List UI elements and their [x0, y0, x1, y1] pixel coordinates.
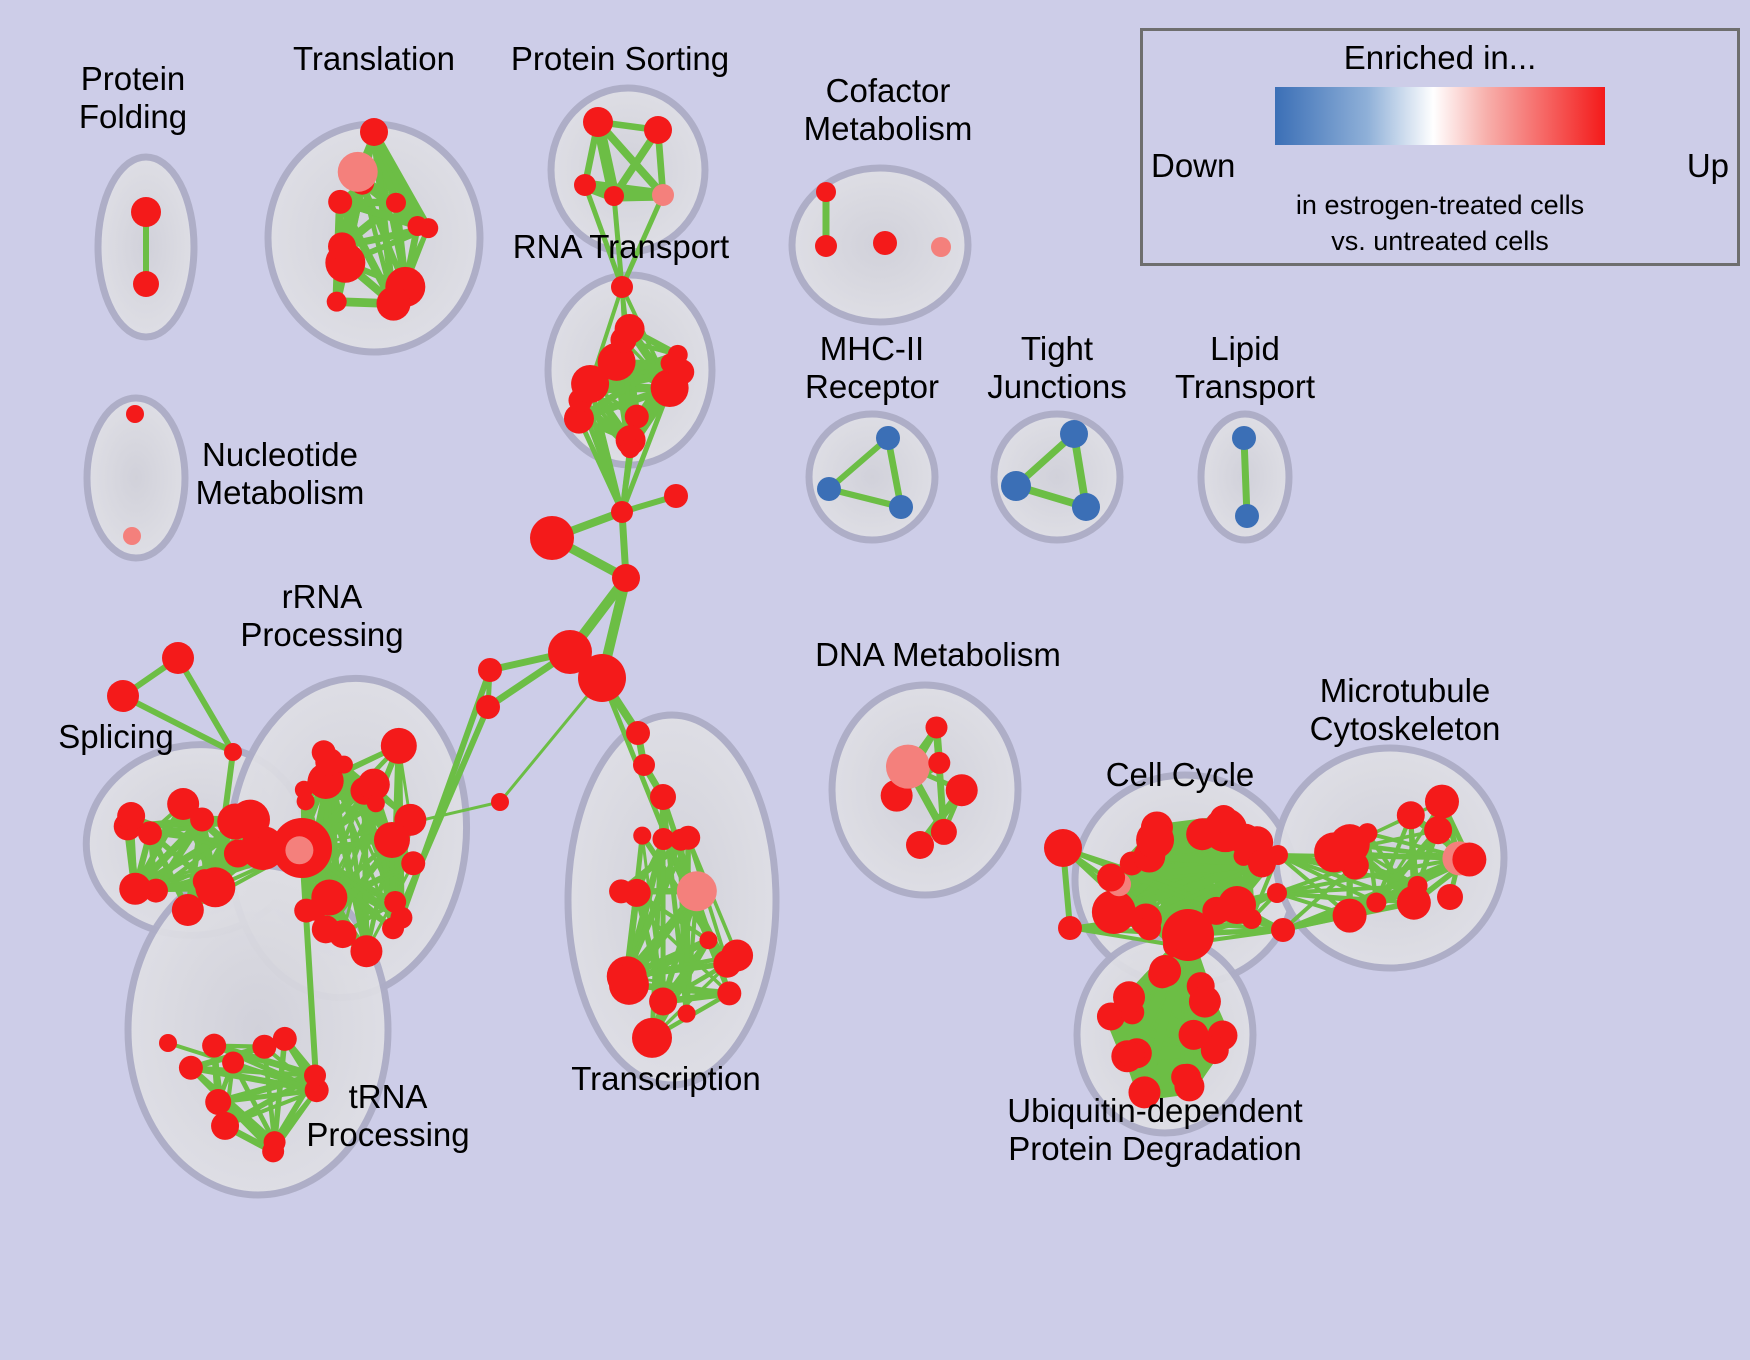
- network-node-ps-rt-bridge[interactable]: [611, 276, 633, 298]
- network-node-protein-folding[interactable]: [133, 271, 159, 297]
- network-node-microtubule-cytoskeleton[interactable]: [1357, 823, 1377, 843]
- network-node-cofactor-metabolism[interactable]: [816, 182, 836, 202]
- network-node-translation[interactable]: [360, 118, 388, 146]
- network-figure: Protein FoldingTranslationProtein Sortin…: [0, 0, 1750, 1360]
- cluster-ellipse-mhc-ii-receptor: [809, 414, 935, 540]
- network-node-transcription[interactable]: [632, 1018, 672, 1058]
- network-node-transcription[interactable]: [713, 950, 741, 978]
- network-node-splicing[interactable]: [224, 840, 252, 868]
- network-node-translation[interactable]: [418, 218, 438, 238]
- network-node-dna-metabolism[interactable]: [946, 774, 978, 806]
- network-node-splicing[interactable]: [190, 808, 214, 832]
- network-node-trna-processing[interactable]: [205, 1089, 231, 1115]
- network-node-rt-mid-c[interactable]: [530, 516, 574, 560]
- cluster-label-microtubule-cytoskeleton: Microtubule Cytoskeleton: [1310, 672, 1501, 748]
- network-node-lipid-transport[interactable]: [1235, 504, 1259, 528]
- cluster-label-splicing: Splicing: [58, 718, 174, 756]
- network-node-nucleotide-metabolism[interactable]: [126, 405, 144, 423]
- network-node-cc-mt-c[interactable]: [1271, 918, 1295, 942]
- network-node-transcription[interactable]: [633, 827, 651, 845]
- network-node-splicing[interactable]: [119, 873, 151, 905]
- network-node-translation[interactable]: [328, 232, 356, 260]
- cluster-label-mhc-ii-receptor: MHC-II Receptor: [805, 330, 939, 406]
- network-node-transcription[interactable]: [699, 931, 717, 949]
- network-node-cell-cycle[interactable]: [1242, 909, 1262, 929]
- legend-up-label: Up: [1687, 147, 1729, 185]
- network-node-rt-mid-a[interactable]: [611, 501, 633, 523]
- network-node-microtubule-cytoskeleton[interactable]: [1425, 785, 1459, 819]
- cluster-label-cofactor-metabolism: Cofactor Metabolism: [804, 72, 973, 148]
- network-node-translation[interactable]: [338, 152, 378, 192]
- network-node-rrna-processing[interactable]: [382, 917, 404, 939]
- network-node-translation[interactable]: [376, 287, 410, 321]
- network-node-protein-sorting[interactable]: [652, 184, 674, 206]
- network-node-ubiquitin-protein-degradation[interactable]: [1201, 1036, 1229, 1064]
- network-node-microtubule-cytoskeleton[interactable]: [1397, 801, 1425, 829]
- network-node-tight-junctions[interactable]: [1060, 420, 1088, 448]
- network-node-trna-processing[interactable]: [179, 1056, 203, 1080]
- network-node-protein-sorting[interactable]: [644, 116, 672, 144]
- network-node-sp-top-c[interactable]: [224, 743, 242, 761]
- network-node-rr-right[interactable]: [491, 793, 509, 811]
- network-node-cofactor-metabolism[interactable]: [815, 235, 837, 257]
- network-node-rna-transport[interactable]: [668, 359, 694, 385]
- network-node-hub-b[interactable]: [578, 654, 626, 702]
- network-node-dna-tail[interactable]: [906, 831, 934, 859]
- network-node-dna-metabolism[interactable]: [928, 752, 950, 774]
- legend-sub-line2: vs. untreated cells: [1143, 225, 1737, 257]
- network-node-mhc-ii-receptor[interactable]: [817, 477, 841, 501]
- network-node-dna-metabolism[interactable]: [931, 819, 957, 845]
- network-node-trna-processing[interactable]: [211, 1112, 239, 1140]
- network-node-rrna-processing[interactable]: [294, 899, 318, 923]
- cluster-label-tight-junctions: Tight Junctions: [987, 330, 1126, 406]
- legend-color-bar: [1275, 87, 1605, 145]
- network-node-rr-up-b[interactable]: [476, 695, 500, 719]
- network-node-cell-cycle[interactable]: [1137, 916, 1161, 940]
- network-node-microtubule-cytoskeleton[interactable]: [1397, 886, 1431, 920]
- network-node-dna-metabolism[interactable]: [886, 745, 930, 789]
- network-node-sp-top-a[interactable]: [162, 642, 194, 674]
- network-node-cc-mt-b[interactable]: [1267, 883, 1287, 903]
- network-node-rrna-processing[interactable]: [381, 728, 417, 764]
- network-node-tight-junctions[interactable]: [1072, 493, 1100, 521]
- network-node-cell-cycle[interactable]: [1166, 914, 1204, 952]
- network-node-tr-in-b[interactable]: [633, 754, 655, 776]
- network-node-trna-processing[interactable]: [222, 1052, 244, 1074]
- network-node-protein-sorting[interactable]: [583, 107, 613, 137]
- network-node-ubiquitin-protein-degradation[interactable]: [1119, 1042, 1145, 1068]
- network-node-rna-transport[interactable]: [620, 438, 640, 458]
- network-node-rrna-processing[interactable]: [312, 740, 336, 764]
- network-node-cell-cycle[interactable]: [1092, 890, 1136, 934]
- cluster-label-ubiquitin-protein-degradation: Ubiquitin-dependent Protein Degradation: [1007, 1092, 1302, 1168]
- network-node-tr-in-c[interactable]: [650, 784, 676, 810]
- network-node-transcription[interactable]: [678, 1005, 696, 1023]
- network-node-protein-sorting[interactable]: [604, 186, 624, 206]
- network-node-cc-left-b[interactable]: [1058, 916, 1082, 940]
- network-node-transcription[interactable]: [609, 879, 633, 903]
- network-node-transcription[interactable]: [617, 965, 635, 983]
- network-node-rrna-processing[interactable]: [285, 836, 313, 864]
- legend-sub-line1: in estrogen-treated cells: [1143, 189, 1737, 221]
- cluster-label-nucleotide-metabolism: Nucleotide Metabolism: [196, 436, 365, 512]
- network-node-cofactor-metabolism[interactable]: [931, 237, 951, 257]
- network-node-ubiquitin-protein-degradation[interactable]: [1113, 981, 1145, 1013]
- legend-box: Enriched in... Down Up in estrogen-treat…: [1140, 28, 1740, 266]
- network-node-protein-folding[interactable]: [131, 197, 161, 227]
- network-node-microtubule-cytoskeleton[interactable]: [1366, 893, 1386, 913]
- cluster-label-protein-folding: Protein Folding: [79, 60, 187, 136]
- network-node-translation[interactable]: [327, 292, 347, 312]
- legend-title: Enriched in...: [1143, 39, 1737, 77]
- network-node-tr-in-a[interactable]: [626, 721, 650, 745]
- network-node-protein-sorting[interactable]: [574, 174, 596, 196]
- network-node-rt-mid-d[interactable]: [612, 564, 640, 592]
- network-node-ubiquitin-protein-degradation[interactable]: [1189, 986, 1221, 1018]
- network-node-translation[interactable]: [328, 190, 352, 214]
- cluster-label-protein-sorting: Protein Sorting: [511, 40, 729, 78]
- cluster-label-cell-cycle: Cell Cycle: [1106, 756, 1255, 794]
- network-node-cc-left-a[interactable]: [1044, 829, 1082, 867]
- network-node-microtubule-cytoskeleton[interactable]: [1452, 843, 1486, 877]
- network-node-splicing[interactable]: [117, 802, 145, 830]
- cluster-label-rna-transport: RNA Transport: [513, 228, 729, 266]
- network-node-trna-processing[interactable]: [273, 1027, 297, 1051]
- network-node-trna-processing[interactable]: [202, 1034, 226, 1058]
- network-node-rrna-processing[interactable]: [374, 822, 410, 858]
- network-node-rna-transport[interactable]: [625, 405, 649, 429]
- cluster-label-lipid-transport: Lipid Transport: [1175, 330, 1315, 406]
- network-node-transcription[interactable]: [676, 826, 700, 850]
- network-node-translation[interactable]: [386, 193, 406, 213]
- network-node-nucleotide-metabolism[interactable]: [123, 527, 141, 545]
- network-node-cc-mt-a[interactable]: [1268, 845, 1288, 865]
- network-node-mt-right[interactable]: [1437, 884, 1463, 910]
- network-node-rna-transport[interactable]: [615, 314, 645, 344]
- cluster-label-trna-processing: tRNA Processing: [306, 1078, 469, 1154]
- network-node-rr-up-a[interactable]: [478, 658, 502, 682]
- network-node-cell-cycle[interactable]: [1097, 864, 1125, 892]
- network-node-cell-cycle[interactable]: [1136, 821, 1174, 859]
- network-node-splicing[interactable]: [172, 894, 204, 926]
- network-node-microtubule-cytoskeleton[interactable]: [1424, 816, 1452, 844]
- network-node-splicing[interactable]: [217, 803, 253, 839]
- network-node-trna-processing[interactable]: [252, 1035, 276, 1059]
- network-node-rt-mid-b[interactable]: [664, 484, 688, 508]
- network-node-mhc-ii-receptor[interactable]: [876, 426, 900, 450]
- network-node-tight-junctions[interactable]: [1001, 471, 1031, 501]
- network-node-lipid-transport[interactable]: [1232, 426, 1256, 450]
- cluster-label-rrna-processing: rRNA Processing: [240, 578, 403, 654]
- network-node-rrna-processing[interactable]: [401, 851, 425, 875]
- network-node-cell-cycle[interactable]: [1202, 897, 1230, 925]
- cluster-label-translation: Translation: [293, 40, 455, 78]
- network-node-rrna-processing[interactable]: [312, 915, 340, 943]
- network-node-sp-top-b[interactable]: [107, 680, 139, 712]
- cluster-label-transcription: Transcription: [571, 1060, 761, 1098]
- network-node-microtubule-cytoskeleton[interactable]: [1333, 899, 1367, 933]
- network-node-rrna-processing[interactable]: [367, 794, 385, 812]
- network-node-mhc-ii-receptor[interactable]: [889, 495, 913, 519]
- cluster-label-dna-metabolism: DNA Metabolism: [815, 636, 1061, 674]
- legend-down-label: Down: [1151, 147, 1235, 185]
- network-node-cell-cycle[interactable]: [1210, 805, 1238, 833]
- network-node-cofactor-metabolism[interactable]: [873, 231, 897, 255]
- network-node-transcription[interactable]: [717, 981, 741, 1005]
- network-node-trna-processing[interactable]: [264, 1131, 286, 1153]
- network-node-splicing[interactable]: [193, 869, 217, 893]
- network-node-transcription[interactable]: [677, 871, 717, 911]
- network-node-transcription[interactable]: [649, 987, 677, 1015]
- network-node-trna-tail[interactable]: [159, 1034, 177, 1052]
- network-node-dna-metabolism[interactable]: [925, 716, 947, 738]
- network-node-ubiquitin-protein-degradation[interactable]: [1149, 955, 1181, 987]
